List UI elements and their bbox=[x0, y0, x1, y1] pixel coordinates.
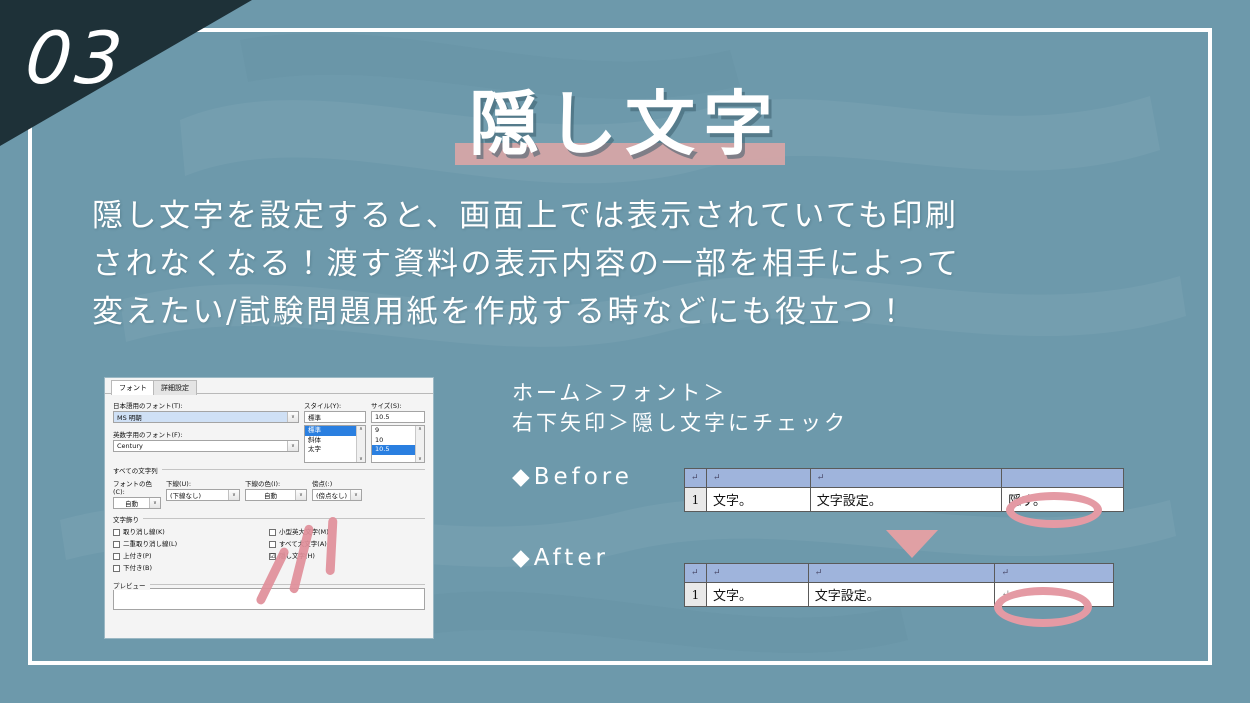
checkbox-icon[interactable] bbox=[113, 541, 120, 548]
cell: 文字。 bbox=[706, 583, 808, 607]
body-paragraph: 隠し文字を設定すると、画面上では表示されていても印刷 されなくなる！渡す資料の表… bbox=[92, 192, 1167, 336]
chevron-down-icon[interactable]: ∨ bbox=[149, 498, 160, 508]
japanese-font-column: 日本語用のフォント(T): MS 明朝 ∨ 英数字用のフォント(F): Cent… bbox=[113, 400, 299, 463]
decoration-column-right: 小型英大文字(M) すべて大文字(A) ☑ 隠し文字(H) bbox=[269, 527, 425, 575]
cell: ↵ bbox=[685, 469, 707, 488]
checkbox-label: 上付き(P) bbox=[123, 551, 152, 562]
size-column: サイズ(S): 10.5 9 10 10.5 ∧ ∨ bbox=[371, 400, 425, 463]
checkbox-icon[interactable] bbox=[113, 565, 120, 572]
checkbox-icon[interactable] bbox=[269, 529, 276, 536]
down-arrow-icon bbox=[886, 530, 938, 558]
style-listbox[interactable]: 標準 斜体 太字 ∧ ∨ bbox=[304, 425, 366, 463]
all-text-group: すべての文字列 フォントの色(C): 自動 ∨ 下線(U): (下線なし) bbox=[113, 469, 425, 509]
word-font-dialog: フォント 詳細設定 日本語用のフォント(T): MS 明朝 ∨ 英数字用のフォン… bbox=[104, 377, 434, 639]
decoration-group-title: 文字飾り bbox=[113, 514, 143, 524]
decoration-group: 文字飾り 取り消し線(K) 二重取り消し線(L) 上付 bbox=[113, 518, 425, 575]
japanese-font-label: 日本語用のフォント(T): bbox=[113, 400, 299, 410]
emphasis-group: 傍点(:) (傍点なし) ∨ bbox=[312, 478, 362, 509]
latin-font-value: Century bbox=[114, 442, 287, 450]
chevron-down-icon[interactable]: ∨ bbox=[287, 412, 298, 422]
all-text-fields: フォントの色(C): 自動 ∨ 下線(U): (下線なし) ∨ bbox=[113, 470, 425, 509]
checkbox-hidden-text[interactable]: ☑ 隠し文字(H) bbox=[269, 551, 425, 562]
scroll-down-icon[interactable]: ∨ bbox=[418, 456, 422, 462]
font-color-field[interactable]: 自動 ∨ bbox=[113, 497, 161, 509]
font-color-group: フォントの色(C): 自動 ∨ bbox=[113, 478, 161, 509]
size-field[interactable]: 10.5 bbox=[371, 411, 425, 423]
cell: ↵ bbox=[995, 564, 1114, 583]
checkbox-subscript[interactable]: 下付き(B) bbox=[113, 563, 269, 574]
cell: 1 bbox=[685, 488, 707, 512]
checkbox-small-caps[interactable]: 小型英大文字(M) bbox=[269, 527, 425, 538]
decoration-checkboxes: 取り消し線(K) 二重取り消し線(L) 上付き(P) 下付き(B) bbox=[113, 519, 425, 575]
underline-field[interactable]: (下線なし) ∨ bbox=[166, 489, 240, 501]
cell: ↵ bbox=[706, 469, 810, 488]
font-selection-row: 日本語用のフォント(T): MS 明朝 ∨ 英数字用のフォント(F): Cent… bbox=[113, 400, 425, 463]
checkbox-double-strikethrough[interactable]: 二重取り消し線(L) bbox=[113, 539, 269, 550]
preview-group-title: プレビュー bbox=[113, 580, 150, 590]
latin-font-label: 英数字用のフォント(F): bbox=[113, 429, 299, 439]
chevron-down-icon[interactable]: ∨ bbox=[287, 441, 298, 451]
scroll-up-icon[interactable]: ∧ bbox=[418, 426, 422, 432]
howto-line-2: 右下矢印＞隠し文字にチェック bbox=[512, 408, 848, 438]
cell: 文字設定。 bbox=[810, 488, 1001, 512]
size-listbox[interactable]: 9 10 10.5 ∧ ∨ bbox=[371, 425, 425, 463]
underline-value: (下線なし) bbox=[167, 490, 228, 500]
body-line-2: されなくなる！渡す資料の表示内容の一部を相手によって bbox=[92, 240, 1167, 288]
table-row: ↵ ↵ ↵ ↵ bbox=[685, 564, 1114, 583]
underline-color-group: 下線の色(I): 自動 ∨ bbox=[245, 478, 307, 509]
underline-color-label: 下線の色(I): bbox=[245, 478, 307, 488]
style-column: スタイル(Y): 標準 標準 斜体 太字 ∧ ∨ bbox=[304, 400, 366, 463]
scrollbar[interactable]: ∧ ∨ bbox=[356, 426, 365, 462]
checkbox-icon[interactable] bbox=[113, 529, 120, 536]
cell bbox=[1002, 469, 1124, 488]
chevron-down-icon[interactable]: ∨ bbox=[295, 490, 306, 500]
cell: ↵ bbox=[995, 583, 1114, 607]
howto-path: ホーム＞フォント＞ 右下矢印＞隠し文字にチェック bbox=[512, 378, 848, 439]
howto-line-1: ホーム＞フォント＞ bbox=[512, 378, 848, 408]
label-before: ◆Before bbox=[512, 464, 633, 490]
cell: ↵ bbox=[706, 564, 808, 583]
table-before: ↵ ↵ ↵ 1 文字。 文字設定。 隠す。 bbox=[684, 468, 1124, 512]
latin-font-field[interactable]: Century ∨ bbox=[113, 440, 299, 452]
page-title: 隠し文字 bbox=[469, 68, 781, 169]
scroll-up-icon[interactable]: ∧ bbox=[359, 426, 363, 432]
cell: 文字。 bbox=[706, 488, 810, 512]
size-label: サイズ(S): bbox=[371, 400, 425, 410]
cell: ↵ bbox=[808, 564, 995, 583]
style-value: 標準 bbox=[305, 412, 365, 422]
tab-font[interactable]: フォント bbox=[111, 380, 155, 395]
font-color-label: フォントの色(C): bbox=[113, 478, 161, 496]
cell: ↵ bbox=[810, 469, 1001, 488]
underline-color-value: 自動 bbox=[246, 490, 295, 500]
tab-advanced[interactable]: 詳細設定 bbox=[153, 380, 197, 395]
table-row: 1 文字。 文字設定。 ↵ bbox=[685, 583, 1114, 607]
style-label: スタイル(Y): bbox=[304, 400, 366, 410]
cell: 文字設定。 bbox=[808, 583, 995, 607]
emphasis-field[interactable]: (傍点なし) ∨ bbox=[312, 489, 362, 501]
title-block: 隠し文字 bbox=[0, 68, 1250, 169]
cell: 1 bbox=[685, 583, 707, 607]
cell: 隠す。 bbox=[1002, 488, 1124, 512]
underline-label: 下線(U): bbox=[166, 478, 240, 488]
table-after: ↵ ↵ ↵ ↵ 1 文字。 文字設定。 ↵ bbox=[684, 563, 1114, 607]
underline-group: 下線(U): (下線なし) ∨ bbox=[166, 478, 240, 509]
chevron-down-icon[interactable]: ∨ bbox=[228, 490, 239, 500]
checkbox-label: 下付き(B) bbox=[123, 563, 152, 574]
dialog-tab-bar: フォント 詳細設定 bbox=[105, 378, 433, 394]
checkbox-label: 二重取り消し線(L) bbox=[123, 539, 177, 550]
slide-canvas: 03 隠し文字 隠し文字を設定すると、画面上では表示されていても印刷 されなくな… bbox=[0, 0, 1250, 703]
japanese-font-field[interactable]: MS 明朝 ∨ bbox=[113, 411, 299, 423]
label-after: ◆After bbox=[512, 545, 609, 571]
all-text-group-title: すべての文字列 bbox=[113, 465, 162, 475]
checkbox-icon[interactable] bbox=[269, 541, 276, 548]
body-line-1: 隠し文字を設定すると、画面上では表示されていても印刷 bbox=[92, 192, 1167, 240]
checkbox-superscript[interactable]: 上付き(P) bbox=[113, 551, 269, 562]
japanese-font-value: MS 明朝 bbox=[114, 412, 287, 422]
checkbox-all-caps[interactable]: すべて大文字(A) bbox=[269, 539, 425, 550]
emphasis-value: (傍点なし) bbox=[313, 490, 350, 500]
checkbox-icon[interactable] bbox=[113, 553, 120, 560]
underline-color-field[interactable]: 自動 ∨ bbox=[245, 489, 307, 501]
chevron-down-icon[interactable]: ∨ bbox=[350, 490, 361, 500]
checkbox-label: 取り消し線(K) bbox=[123, 527, 165, 538]
scrollbar[interactable]: ∧ ∨ bbox=[415, 426, 424, 462]
decoration-column-left: 取り消し線(K) 二重取り消し線(L) 上付き(P) 下付き(B) bbox=[113, 527, 269, 575]
scroll-down-icon[interactable]: ∨ bbox=[359, 456, 363, 462]
cell: ↵ bbox=[685, 564, 707, 583]
font-color-value: 自動 bbox=[114, 498, 149, 508]
table-row: 1 文字。 文字設定。 隠す。 bbox=[685, 488, 1124, 512]
table-row: ↵ ↵ ↵ bbox=[685, 469, 1124, 488]
body-line-3: 変えたい/試験問題用紙を作成する時などにも役立つ！ bbox=[92, 288, 1167, 336]
emphasis-label: 傍点(:) bbox=[312, 478, 362, 488]
checkbox-strikethrough[interactable]: 取り消し線(K) bbox=[113, 527, 269, 538]
style-field[interactable]: 標準 bbox=[304, 411, 366, 423]
size-value: 10.5 bbox=[372, 413, 424, 421]
